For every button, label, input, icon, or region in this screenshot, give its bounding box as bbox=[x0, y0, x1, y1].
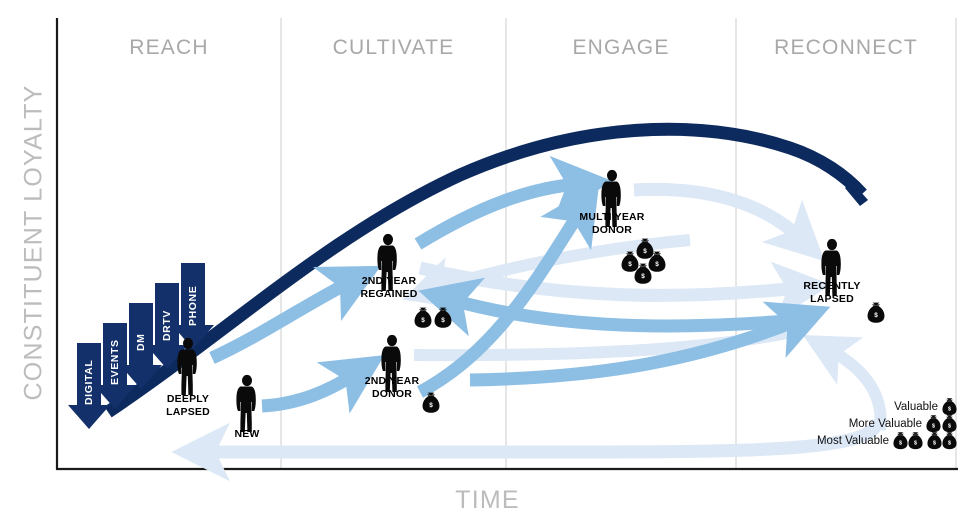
svg-text:$: $ bbox=[914, 440, 917, 446]
money-bags-recently-lapsed bbox=[868, 303, 885, 323]
y-axis-title: CONSTITUENT LOYALTY bbox=[20, 43, 49, 443]
money-bags-multi-year-donor bbox=[622, 239, 666, 284]
donor-lifecycle-diagram: DIGITAL EVENTS DM DRTV PHONE bbox=[0, 0, 975, 524]
svg-text:$: $ bbox=[932, 423, 935, 429]
svg-text:$: $ bbox=[899, 440, 902, 446]
value-legend: Valuable $ More Valuable $ bbox=[817, 398, 957, 449]
legend-label-more-valuable: More Valuable bbox=[849, 418, 922, 430]
svg-text:$: $ bbox=[948, 406, 951, 412]
phase-header-reconnect: RECONNECT bbox=[736, 36, 956, 60]
legend-bags-most-valuable: $ $ $ bbox=[893, 430, 957, 451]
phase-header-cultivate: CULTIVATE bbox=[281, 36, 506, 60]
x-axis-title: TIME bbox=[0, 486, 975, 515]
legend-label-most-valuable: Most Valuable bbox=[817, 435, 889, 447]
svg-text:$: $ bbox=[948, 440, 951, 446]
legend-label-valuable: Valuable bbox=[894, 401, 938, 413]
phase-header-engage: ENGAGE bbox=[506, 36, 736, 60]
money-bag-icon: $ bbox=[927, 430, 942, 451]
phase-header-reach: REACH bbox=[57, 36, 281, 60]
legend-row-most-valuable: Most Valuable $ $ bbox=[817, 432, 957, 449]
money-bag-icon: $ bbox=[908, 430, 923, 451]
svg-text:$: $ bbox=[948, 423, 951, 429]
money-bags-second-year-regained bbox=[415, 308, 452, 328]
money-bags-second-year-donor bbox=[423, 393, 440, 413]
svg-text:$: $ bbox=[933, 440, 936, 446]
money-bag-icon: $ bbox=[942, 430, 957, 451]
money-bag-icon: $ bbox=[893, 430, 908, 451]
